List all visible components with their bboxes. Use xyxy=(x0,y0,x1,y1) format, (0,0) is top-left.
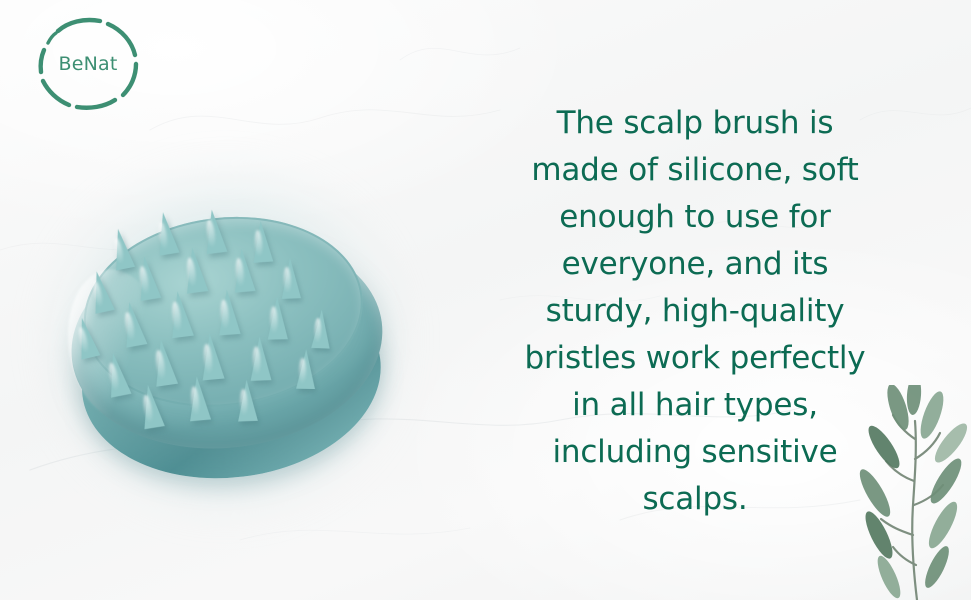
copy-line: sturdy, high-quality xyxy=(505,288,885,335)
bristle xyxy=(199,333,225,381)
bristle xyxy=(201,208,227,254)
bristle xyxy=(280,258,301,299)
copy-line: everyone, and its xyxy=(505,241,885,288)
bristle xyxy=(237,379,258,421)
bristle xyxy=(249,336,271,380)
scalp-brush xyxy=(56,187,409,514)
logo-wordmark: BeNat xyxy=(24,12,152,116)
bristle xyxy=(186,376,211,422)
copy-line: in all hair types, xyxy=(505,382,885,429)
product-image xyxy=(30,150,420,530)
marketing-copy: The scalp brush is made of silicone, sof… xyxy=(505,100,885,523)
copy-line: made of silicone, soft xyxy=(505,147,885,194)
olive-branch-icon xyxy=(851,385,971,600)
bristle xyxy=(311,309,331,348)
copy-line: bristles work perfectly xyxy=(505,335,885,382)
copy-line: The scalp brush is xyxy=(505,100,885,147)
bristle xyxy=(251,220,274,263)
copy-line: scalps. xyxy=(505,476,885,523)
product-banner: BeNat xyxy=(0,0,971,600)
bristle xyxy=(267,297,288,340)
copy-line: including sensitive xyxy=(505,429,885,476)
bristle xyxy=(296,349,316,389)
bristle xyxy=(231,247,256,292)
copy-line: enough to use for xyxy=(505,194,885,241)
brand-logo: BeNat xyxy=(24,12,152,116)
bristle xyxy=(216,289,241,335)
